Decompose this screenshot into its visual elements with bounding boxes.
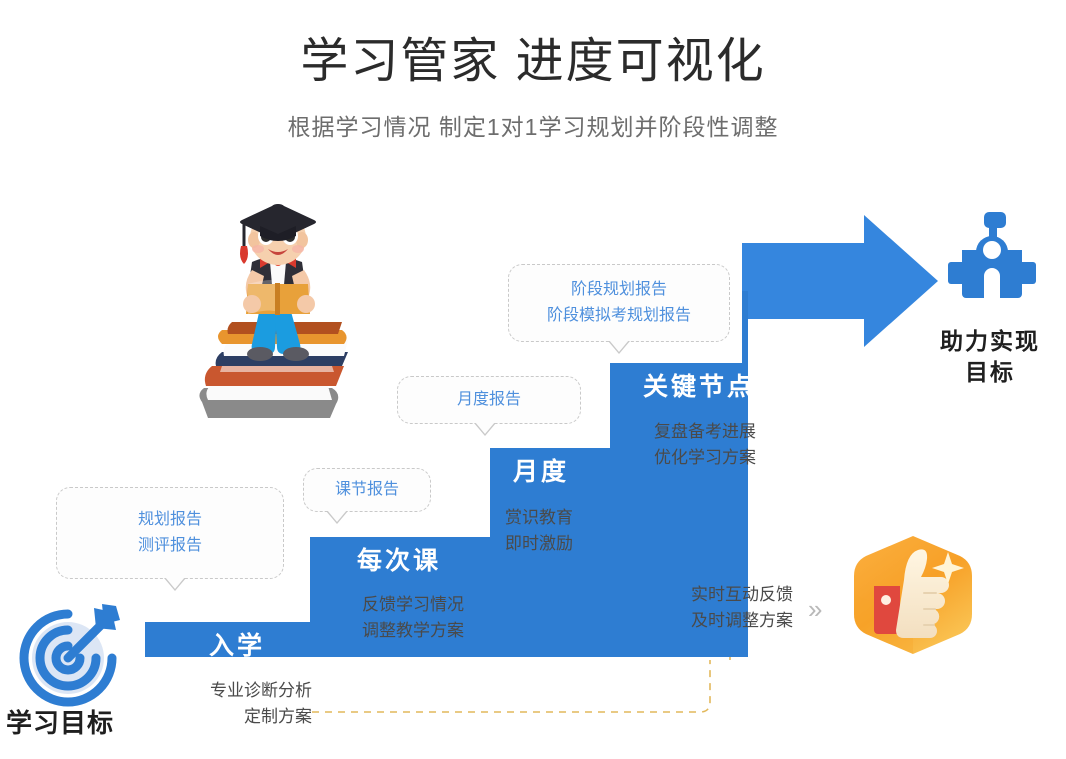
step-label-4: 关键节点 [643, 367, 755, 403]
step-desc-3: 赏识教育 即时激励 [505, 505, 573, 558]
step-label-1: 入学 [209, 626, 265, 662]
step-desc-4-line2: 优化学习方案 [654, 445, 756, 471]
thumbs-up-badge-icon [848, 534, 978, 656]
graduation-trophy-icon [948, 212, 1036, 304]
step-desc-3-line2: 即时激励 [505, 531, 573, 557]
student-reading-on-books-illustration [186, 204, 376, 444]
end-label-line1: 助力实现 [900, 326, 1066, 357]
bubble-tail-inner [475, 422, 495, 434]
bubble-monthly: 月度报告 [397, 376, 581, 424]
step-desc-2-line2: 调整教学方案 [362, 618, 464, 644]
bubble-milestone: 阶段规划报告 阶段模拟考规划报告 [508, 264, 730, 342]
bubble-tail-inner [609, 340, 629, 352]
bubble-tail-inner [165, 577, 185, 589]
step-desc-1: 专业诊断分析 定制方案 [152, 678, 312, 731]
step-label-3: 月度 [513, 452, 569, 488]
start-label: 学习目标 [6, 703, 114, 740]
chevron-right-icon: » [808, 596, 822, 622]
bubble-monthly-line1: 月度报告 [457, 387, 521, 413]
step-desc-3-line1: 赏识教育 [505, 505, 573, 531]
bubble-lesson: 课节报告 [303, 468, 431, 512]
bubble-tail-inner [327, 510, 347, 522]
step-desc-4: 复盘备考进展 优化学习方案 [654, 419, 756, 472]
step-desc-4-line1: 复盘备考进展 [654, 419, 756, 445]
step-label-2: 每次课 [357, 541, 441, 577]
step-desc-1-line2: 定制方案 [152, 704, 312, 730]
step-desc-2: 反馈学习情况 调整教学方案 [362, 592, 464, 645]
step-desc-2-line1: 反馈学习情况 [362, 592, 464, 618]
end-label-line2: 目标 [900, 357, 1066, 388]
bubble-enroll: 规划报告 测评报告 [56, 487, 284, 579]
bubble-lesson-line1: 课节报告 [335, 477, 399, 503]
bubble-enroll-line2: 测评报告 [138, 533, 202, 559]
bubble-milestone-line1: 阶段规划报告 [571, 277, 667, 303]
feedback-line1: 实时互动反馈 [691, 582, 793, 608]
feedback-desc: 实时互动反馈 及时调整方案 [691, 582, 793, 635]
target-icon [16, 598, 128, 710]
end-label: 助力实现 目标 [900, 326, 1066, 388]
infographic-canvas: 学习管家 进度可视化 根据学习情况 制定1对1学习规划并阶段性调整 入学 每次课… [0, 0, 1066, 759]
feedback-line2: 及时调整方案 [691, 608, 793, 634]
bubble-enroll-line1: 规划报告 [138, 507, 202, 533]
step-desc-1-line1: 专业诊断分析 [152, 678, 312, 704]
bubble-milestone-line2: 阶段模拟考规划报告 [547, 303, 691, 329]
